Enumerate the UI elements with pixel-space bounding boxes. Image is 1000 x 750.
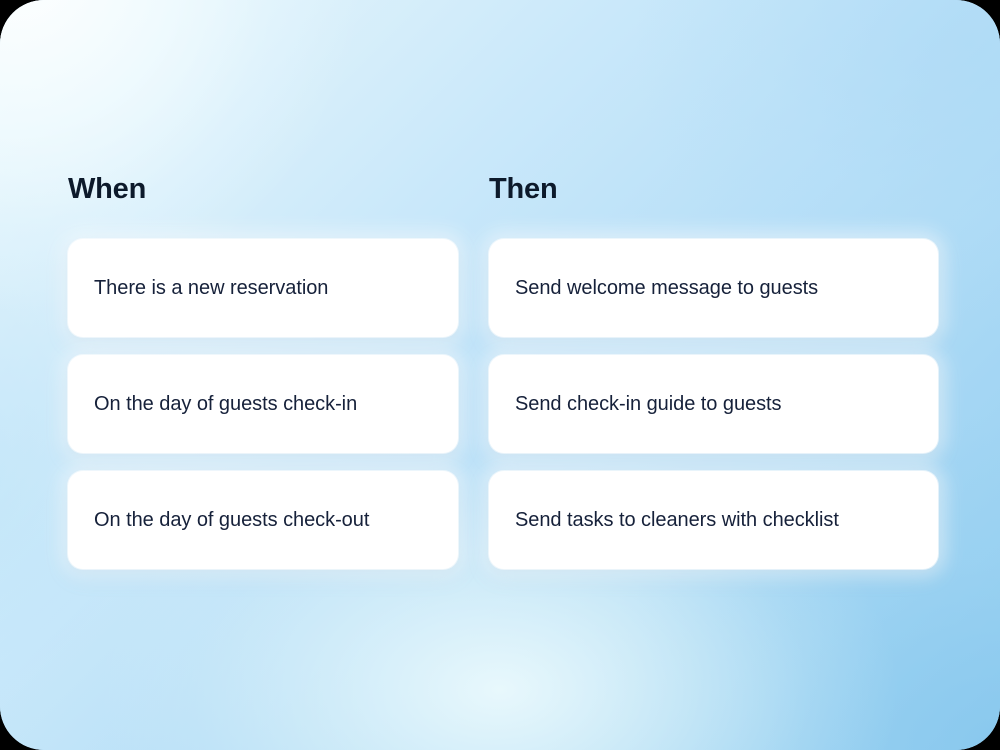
then-action-label-3: Send tasks to cleaners with checklist (515, 508, 839, 533)
then-action-label-2: Send check-in guide to guests (515, 392, 782, 417)
when-trigger-card-2[interactable]: On the day of guests check-in (68, 355, 458, 453)
rules-content: When There is a new reservation On the d… (68, 175, 938, 569)
then-action-card-3[interactable]: Send tasks to cleaners with checklist (489, 471, 938, 569)
when-card-list: There is a new reservation On the day of… (68, 239, 458, 569)
then-column-heading: Then (489, 175, 938, 204)
automation-rules-canvas: When There is a new reservation On the d… (0, 0, 1000, 750)
when-trigger-label-2: On the day of guests check-in (94, 392, 357, 417)
when-trigger-label-1: There is a new reservation (94, 276, 328, 301)
then-column: Then Send welcome message to guests Send… (489, 175, 938, 569)
when-trigger-card-3[interactable]: On the day of guests check-out (68, 471, 458, 569)
when-trigger-label-3: On the day of guests check-out (94, 508, 369, 533)
when-column-heading: When (68, 175, 458, 204)
then-action-card-2[interactable]: Send check-in guide to guests (489, 355, 938, 453)
then-action-card-1[interactable]: Send welcome message to guests (489, 239, 938, 337)
then-card-list: Send welcome message to guests Send chec… (489, 239, 938, 569)
rules-columns: When There is a new reservation On the d… (68, 175, 938, 569)
when-column: When There is a new reservation On the d… (68, 175, 458, 569)
when-trigger-card-1[interactable]: There is a new reservation (68, 239, 458, 337)
then-action-label-1: Send welcome message to guests (515, 276, 818, 301)
